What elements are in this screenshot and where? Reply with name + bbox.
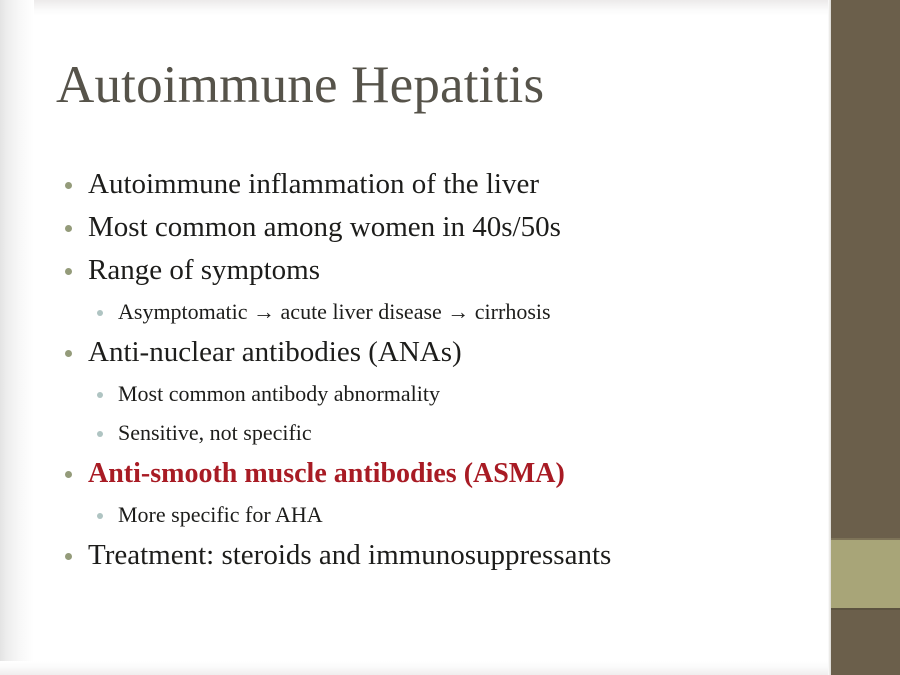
bullet-item-level2: More specific for AHA: [0, 495, 800, 534]
bullet-text: Anti-smooth muscle antibodies (ASMA): [88, 458, 565, 489]
bullet-item-level2: Sensitive, not specific: [0, 413, 800, 452]
bullet-item-level1: Most common among women in 40s/50s: [0, 206, 800, 249]
bullet-text: Autoimmune inflammation of the liver: [88, 168, 539, 200]
slide-bottom-edge-shade: [0, 661, 900, 675]
sidebar-divider-bottom: [831, 608, 900, 610]
bullet-dot-icon: [65, 553, 72, 560]
bullet-dot-icon: [65, 350, 72, 357]
bullet-text: Most common antibody abnormality: [118, 381, 440, 406]
bullet-dot-icon: [97, 392, 103, 398]
bullet-text: Range of symptoms: [88, 254, 320, 286]
bullet-item-level1: Anti-nuclear antibodies (ANAs): [0, 331, 800, 374]
bullet-text: Sensitive, not specific: [118, 420, 312, 445]
bullet-dot-icon: [65, 225, 72, 232]
bullet-dot-icon: [97, 310, 103, 316]
decorative-sidebar-accent-block: [831, 540, 900, 608]
presentation-slide: Autoimmune Hepatitis Autoimmune inflamma…: [0, 0, 900, 675]
bullet-item-level1: Autoimmune inflammation of the liver: [0, 163, 800, 206]
bullet-text: Asymptomatic → acute liver disease → cir…: [118, 299, 551, 324]
bullet-item-level2: Most common antibody abnormality: [0, 374, 800, 413]
bullet-item-level2: Asymptomatic → acute liver disease → cir…: [0, 292, 800, 331]
bullet-dot-icon: [97, 513, 103, 519]
slide-bullet-list: Autoimmune inflammation of the liverMost…: [0, 163, 800, 577]
bullet-text: Anti-nuclear antibodies (ANAs): [88, 336, 462, 368]
bullet-item-level1: Anti-smooth muscle antibodies (ASMA): [0, 452, 800, 495]
slide-top-edge-shade: [0, 0, 900, 16]
bullet-dot-icon: [65, 471, 72, 478]
bullet-dot-icon: [97, 431, 103, 437]
bullet-item-level1: Range of symptoms: [0, 249, 800, 292]
bullet-dot-icon: [65, 268, 72, 275]
bullet-text: Most common among women in 40s/50s: [88, 211, 561, 243]
bullet-item-level1: Treatment: steroids and immunosuppressan…: [0, 534, 800, 577]
slide-title: Autoimmune Hepatitis: [56, 53, 544, 117]
bullet-text: More specific for AHA: [118, 502, 323, 527]
bullet-text: Treatment: steroids and immunosuppressan…: [88, 539, 611, 571]
bullet-dot-icon: [65, 182, 72, 189]
